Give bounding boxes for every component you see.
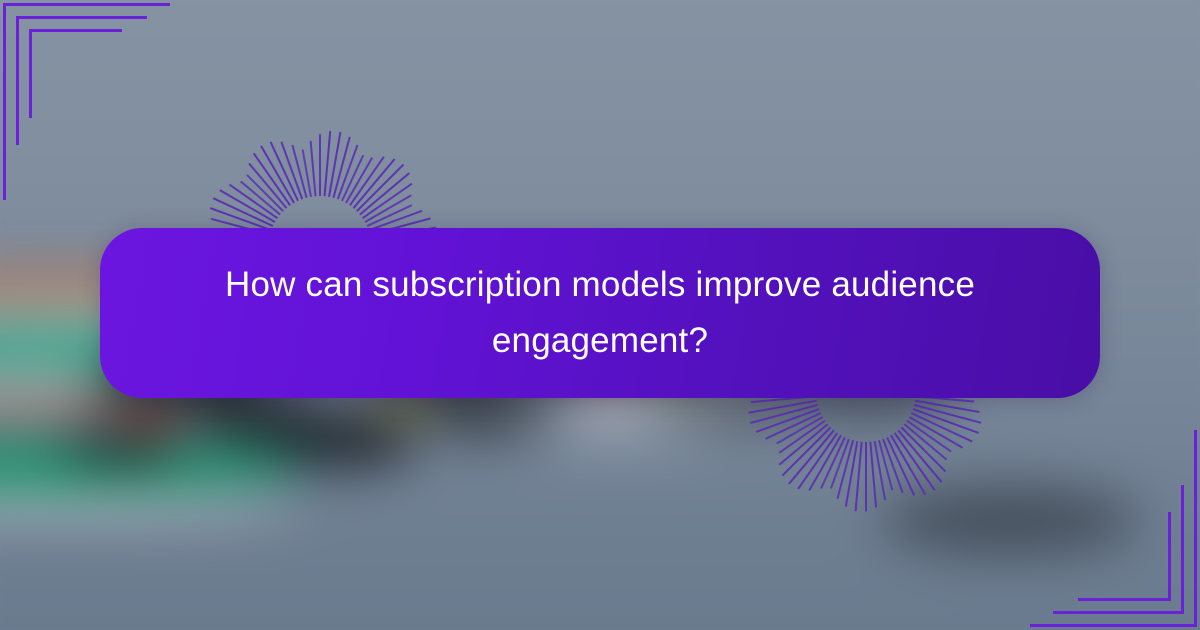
question-text: How can subscription models improve audi…	[180, 257, 1020, 369]
question-card: How can subscription models improve audi…	[100, 228, 1100, 398]
social-card-canvas: How can subscription models improve audi…	[0, 0, 1200, 630]
aircraft-shadow	[880, 485, 1140, 555]
livery-accent	[120, 410, 180, 440]
